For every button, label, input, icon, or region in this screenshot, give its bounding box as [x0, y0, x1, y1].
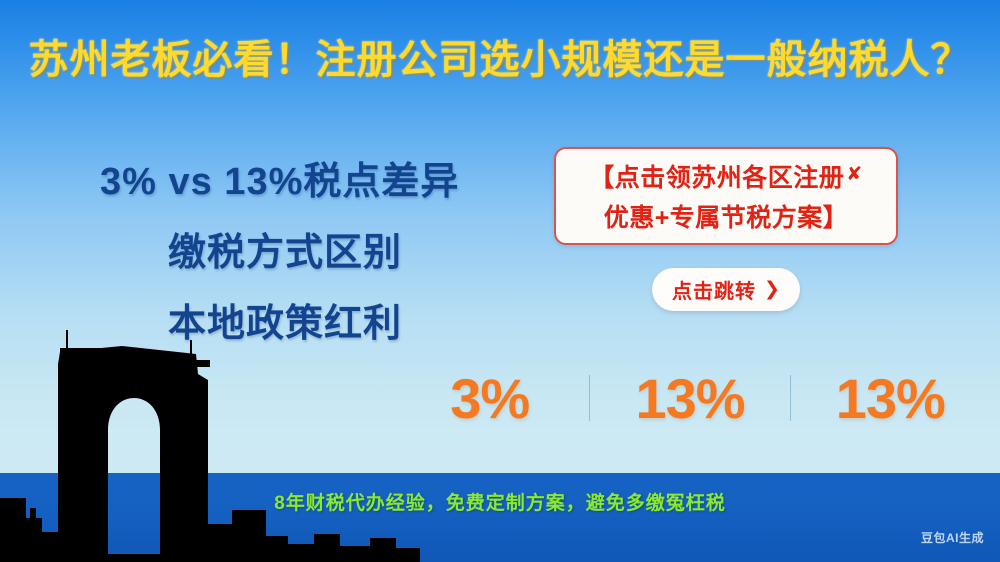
highlight-list: 3% vs 13%税点差异 缴税方式区别 本地政策红利 — [78, 150, 508, 347]
page-title: 苏州老板必看！注册公司选小规模还是一般纳税人？ — [0, 28, 1000, 84]
cta-card-line-1: 【点击领苏州各区注册 ✘ — [589, 158, 862, 194]
percent-value-3: 13% — [791, 366, 990, 431]
footer-tagline-text: 8年财税代办经验，免费定制方案，避免多缴冤枉税 — [274, 488, 726, 515]
percent-value-1: 3% — [390, 366, 589, 431]
highlight-item-2: 缴税方式区别 — [78, 221, 508, 276]
page-title-text: 苏州老板必看！注册公司选小规模还是一般纳税人？ — [29, 27, 972, 85]
chevron-right-icon: ❯ — [764, 280, 780, 299]
percent-comparison-row: 3% 13% 13% — [390, 362, 990, 434]
jump-button-label: 点击跳转 — [672, 275, 756, 304]
highlight-item-1: 3% vs 13%税点差异 — [78, 150, 508, 205]
watermark: 豆包AI生成 — [921, 529, 984, 546]
footer-tagline: 8年财税代办经验，免费定制方案，避免多缴冤枉税 — [0, 486, 1000, 516]
cta-card-line-2: 优惠+专属节税方案】 — [604, 198, 849, 234]
cta-card[interactable]: 【点击领苏州各区注册 ✘ 优惠+专属节税方案】 — [554, 147, 898, 245]
cta-card-line-1-text: 【点击领苏州各区注册 — [589, 158, 844, 194]
poster-canvas: 苏州老板必看！注册公司选小规模还是一般纳税人？ 3% vs 13%税点差异 缴税… — [0, 0, 1000, 562]
highlight-item-3: 本地政策红利 — [78, 292, 508, 347]
jump-button[interactable]: 点击跳转 ❯ — [652, 268, 800, 311]
cross-mark-icon: ✘ — [846, 163, 862, 186]
percent-value-2: 13% — [590, 366, 789, 431]
